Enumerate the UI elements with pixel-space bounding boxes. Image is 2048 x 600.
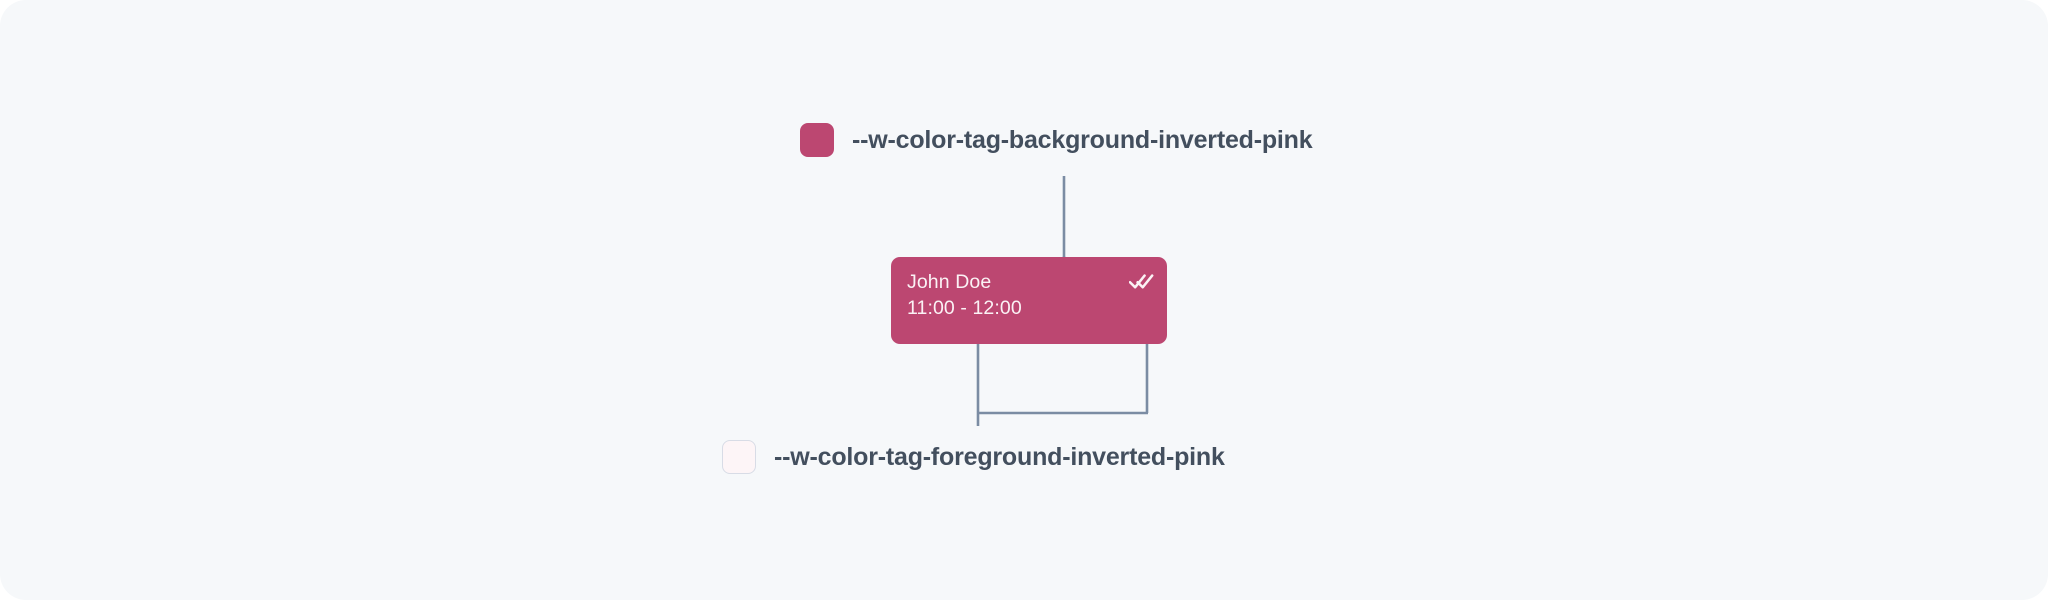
annotation-row-tag-foreground-inverted-pink: --w-color-tag-foreground-inverted-pink [722, 440, 1225, 474]
event-time-range: 11:00 - 12:00 [907, 295, 1151, 321]
annotation-label-tag-foreground-inverted-pink: --w-color-tag-foreground-inverted-pink [774, 445, 1225, 470]
event-attendee-name: John Doe [907, 269, 1151, 295]
annotation-label-tag-background-inverted-pink: --w-color-tag-background-inverted-pink [852, 128, 1312, 153]
color-swatch-tag-background-inverted-pink [800, 123, 834, 157]
calendar-event-card[interactable]: John Doe 11:00 - 12:00 [891, 257, 1167, 344]
annotated-color-token-diagram: --w-color-tag-background-inverted-pink J… [0, 0, 2048, 600]
color-swatch-tag-foreground-inverted-pink [722, 440, 756, 474]
annotation-row-tag-background-inverted-pink: --w-color-tag-background-inverted-pink [800, 123, 1312, 157]
double-check-icon [1129, 271, 1154, 291]
